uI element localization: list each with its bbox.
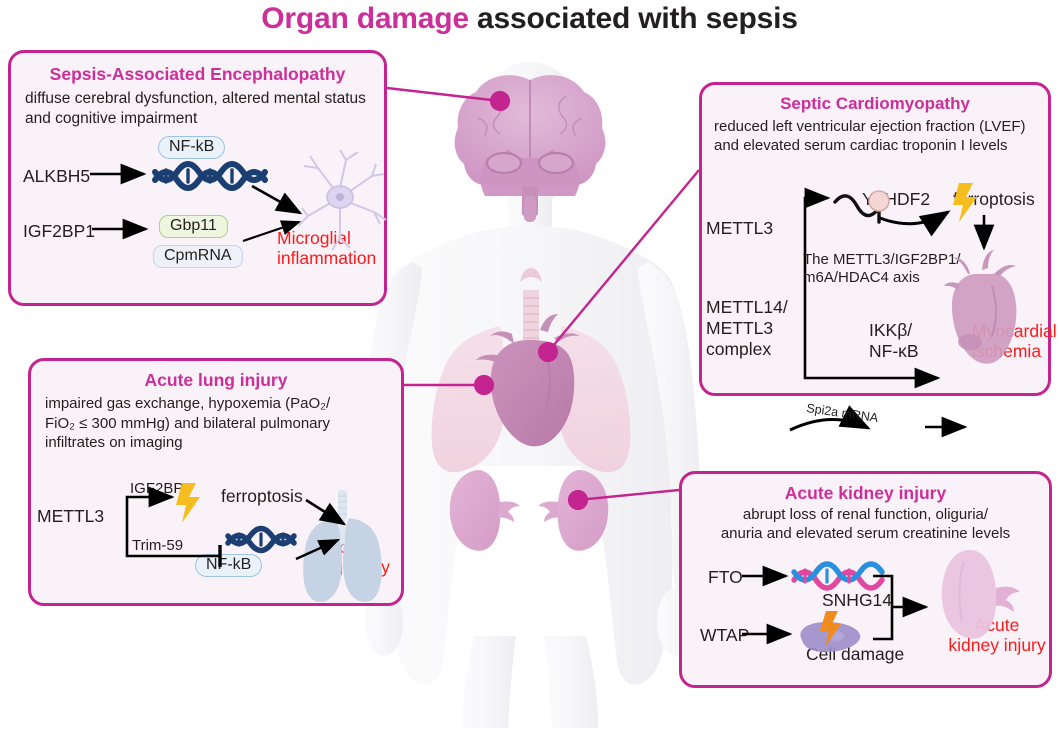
outcome-microglial-inflammation: Microglial inflammation [277, 229, 376, 268]
node-cpmrna-pill: CpmRNA [153, 245, 243, 268]
lungs-organ [432, 326, 631, 472]
node-snhg14: SNHG14 [822, 590, 892, 611]
outcome-acute-kidney-injury: Acute kidney injury [942, 616, 1052, 655]
panel-aki-description: abrupt loss of renal function, oliguria/… [694, 505, 1037, 543]
outcome-myocardial-ischemia: Myocardial ischemia [972, 322, 1057, 361]
node-alkbh5: ALKBH5 [23, 166, 90, 187]
kidney-right-organ [538, 470, 608, 551]
page-title: Organ damage associated with sepsis [0, 2, 1059, 36]
panel-sae-title: Sepsis-Associated Encephalopathy [25, 65, 370, 84]
node-mettl3-ali: METTL3 [37, 506, 104, 527]
panel-ali-title: Acute lung injury [45, 371, 387, 390]
panel-scm-description: reduced left ventricular ejection fracti… [714, 117, 1036, 155]
node-ferroptosis-scm: ferroptosis [953, 189, 1035, 210]
arrow-complex-to-ikk [790, 419, 868, 430]
node-nfkb-pill-ali: NF-kB [195, 554, 262, 577]
node-ferroptosis-ali: ferroptosis [221, 486, 303, 507]
human-body-silhouette [359, 62, 702, 728]
node-mettl3-axis: The METTL3/IGF2BP1/ m6A/HDAC4 axis [803, 251, 961, 287]
node-mettl14-mettl3-complex: METTL14/ METTL3 complex [706, 297, 788, 360]
node-trim59: Trim-59 [132, 537, 183, 554]
connector-heart [548, 170, 699, 352]
connector-brain [387, 88, 500, 101]
node-mettl3-scm: METTL3 [706, 218, 773, 239]
node-nfkb-pill: NF-kB [158, 136, 225, 159]
node-igf2bp1: IGF2BP1 [23, 221, 95, 242]
panel-acute-lung-injury[interactable]: Acute lung injury impaired gas exchange,… [28, 358, 404, 606]
panel-aki-title: Acute kidney injury [694, 484, 1037, 503]
panel-ali-description: impaired gas exchange, hypoxemia (PaO₂/ … [45, 394, 387, 453]
title-rest: associated with sepsis [469, 2, 798, 35]
heart-organ [476, 314, 580, 446]
node-cell-damage: Cell damage [806, 644, 904, 665]
panel-scm-title: Septic Cardiomyopathy [714, 95, 1036, 114]
title-accent: Organ damage [261, 2, 469, 35]
node-ythdf2: YTHDF2 [862, 189, 930, 210]
kidney-left-organ [450, 470, 520, 551]
connector-lines [387, 88, 699, 500]
node-igf2bp2: IGF2BP2 [130, 480, 192, 497]
node-gbp11-pill: Gbp11 [159, 215, 228, 238]
connector-kidney [578, 490, 679, 500]
node-ikkb-nfkb: IKKβ/ NF-κB [869, 320, 919, 362]
panel-septic-cardiomyopathy[interactable]: Septic Cardiomyopathy reduced left ventr… [699, 82, 1051, 396]
node-wtap: WTAP [700, 625, 749, 646]
brain-organ [455, 75, 606, 222]
panel-sepsis-associated-encephalopathy[interactable]: Sepsis-Associated Encephalopathy diffuse… [8, 50, 387, 306]
label-spi2a-mrna: Spi2a mRNA [806, 401, 880, 425]
panel-acute-kidney-injury[interactable]: Acute kidney injury abrupt loss of renal… [679, 471, 1052, 688]
node-fto: FTO [708, 567, 743, 588]
figure-canvas: Organ damage associated with sepsis [0, 0, 1059, 749]
panel-sae-description: diffuse cerebral dysfunction, altered me… [25, 89, 370, 129]
outcome-acute-lung-injury: Acute lung injury [295, 538, 405, 577]
trachea-organ [520, 268, 542, 356]
